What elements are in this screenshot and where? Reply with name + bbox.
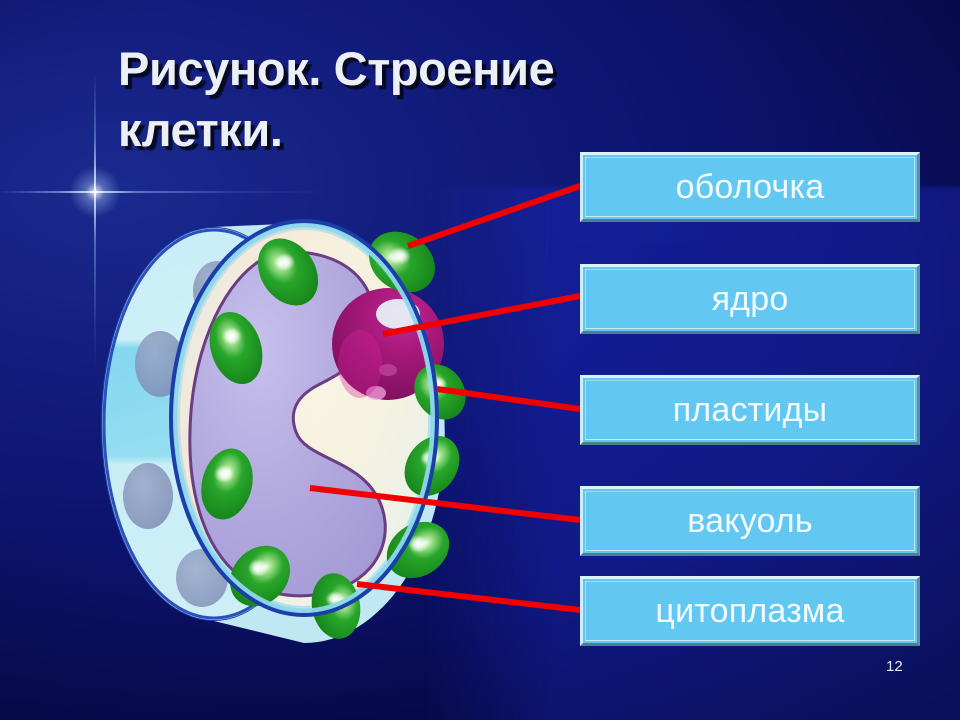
label-text: пластиды: [673, 393, 828, 427]
page-title: Рисунок. Строение клетки.: [118, 38, 738, 160]
slide-canvas: Рисунок. Строение клетки.: [0, 0, 960, 720]
label-box-inner: ядро: [585, 269, 915, 329]
label-box-cell-wall[interactable]: оболочка: [580, 152, 920, 222]
page-number: 12: [886, 658, 903, 675]
label-text: оболочка: [676, 170, 825, 204]
plant-cell-diagram: [88, 196, 500, 644]
label-box-cytoplasm[interactable]: цитоплазма: [580, 576, 920, 646]
label-box-nucleus[interactable]: ядро: [580, 264, 920, 334]
label-box-inner: оболочка: [585, 157, 915, 217]
label-box-inner: вакуоль: [585, 491, 915, 551]
label-text: вакуоль: [687, 504, 813, 538]
label-box-plastid[interactable]: пластиды: [580, 375, 920, 445]
label-text: ядро: [712, 282, 789, 316]
label-box-inner: цитоплазма: [585, 581, 915, 641]
label-box-inner: пластиды: [585, 380, 915, 440]
label-text: цитоплазма: [655, 594, 844, 628]
sparkle-ray-horizontal: [0, 191, 329, 193]
label-box-vacuole[interactable]: вакуоль: [580, 486, 920, 556]
